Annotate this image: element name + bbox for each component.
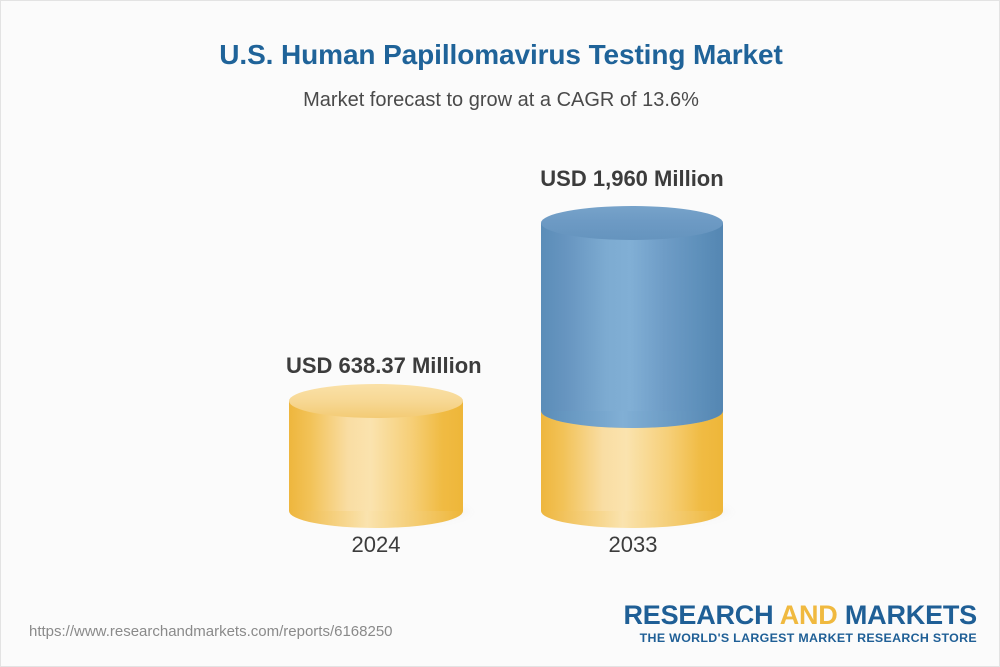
value-label-2024: USD 638.37 Million [286,353,466,379]
bar-segment-2033-growth [541,223,723,411]
source-url[interactable]: https://www.researchandmarkets.com/repor… [29,623,393,640]
chart-frame: U.S. Human Papillomavirus Testing Market… [0,0,1000,667]
bar-2024[interactable] [289,401,463,511]
bar-segment-2024 [289,401,463,511]
logo-tagline: THE WORLD'S LARGEST MARKET RESEARCH STOR… [623,631,977,645]
research-and-markets-logo[interactable]: RESEARCH AND MARKETS THE WORLD'S LARGEST… [623,601,977,645]
logo-word-and: AND [780,600,845,630]
cylinder-top-cap [289,384,463,418]
logo-wordmark: RESEARCH AND MARKETS [623,601,977,629]
plot-area: USD 638.37 Million USD 1,960 Million [1,1,1000,601]
cylinder-body [541,223,723,411]
category-label-2024: 2024 [286,532,466,558]
logo-word-research: RESEARCH [623,600,779,630]
logo-word-markets: MARKETS [845,600,977,630]
value-label-2033: USD 1,960 Million [537,166,727,192]
cylinder-top-cap [541,206,723,240]
bar-2033[interactable] [541,223,723,511]
category-label-2033: 2033 [542,532,724,558]
